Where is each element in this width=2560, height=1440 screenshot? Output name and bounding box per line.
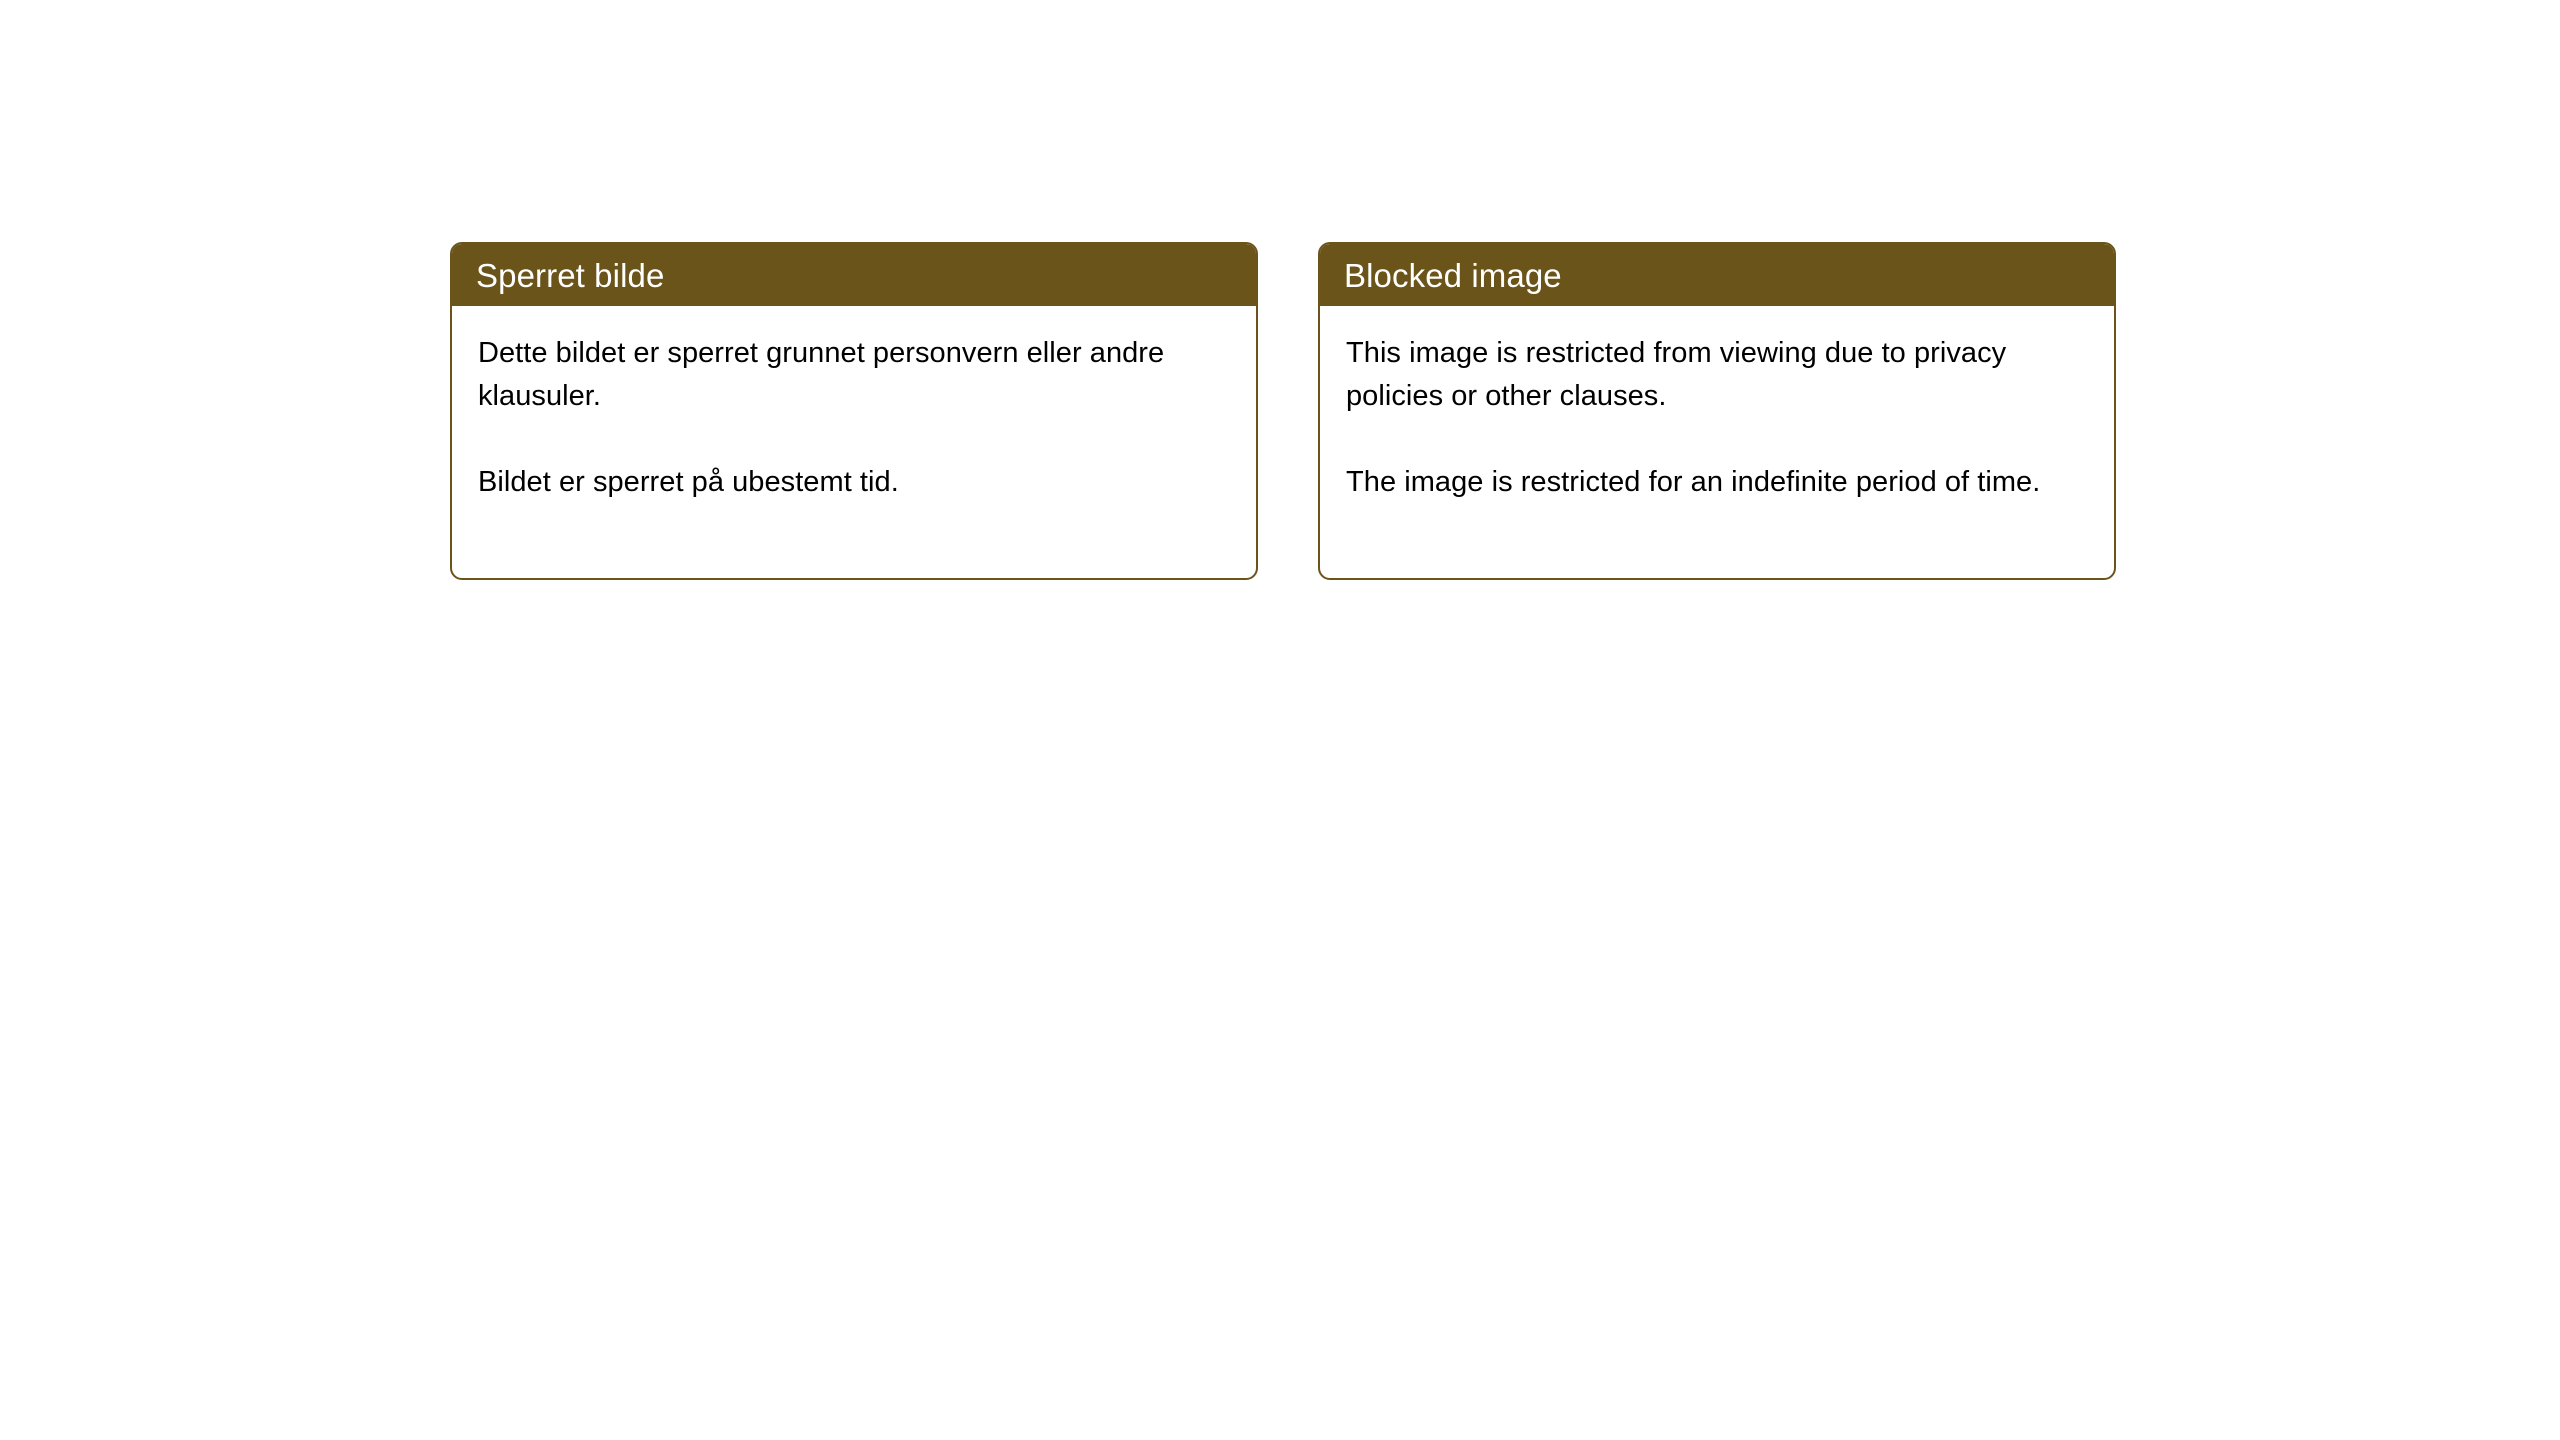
blocked-image-notice-norwegian: Sperret bilde Dette bildet er sperret gr… — [450, 242, 1258, 580]
blocked-image-notice-english: Blocked image This image is restricted f… — [1318, 242, 2116, 580]
notice-paragraph-reason-english: This image is restricted from viewing du… — [1346, 332, 2088, 418]
notice-body-norwegian: Dette bildet er sperret grunnet personve… — [452, 306, 1256, 504]
notice-header-english: Blocked image — [1320, 244, 2114, 306]
notice-body-english: This image is restricted from viewing du… — [1320, 306, 2114, 504]
notice-header-norwegian: Sperret bilde — [452, 244, 1256, 306]
notice-title-norwegian: Sperret bilde — [476, 259, 664, 292]
page-canvas: Sperret bilde Dette bildet er sperret gr… — [0, 0, 2560, 1440]
notice-paragraph-duration-norwegian: Bildet er sperret på ubestemt tid. — [478, 461, 1230, 504]
notice-title-english: Blocked image — [1344, 259, 1562, 292]
notice-paragraph-duration-english: The image is restricted for an indefinit… — [1346, 461, 2088, 504]
notice-paragraph-reason-norwegian: Dette bildet er sperret grunnet personve… — [478, 332, 1230, 418]
